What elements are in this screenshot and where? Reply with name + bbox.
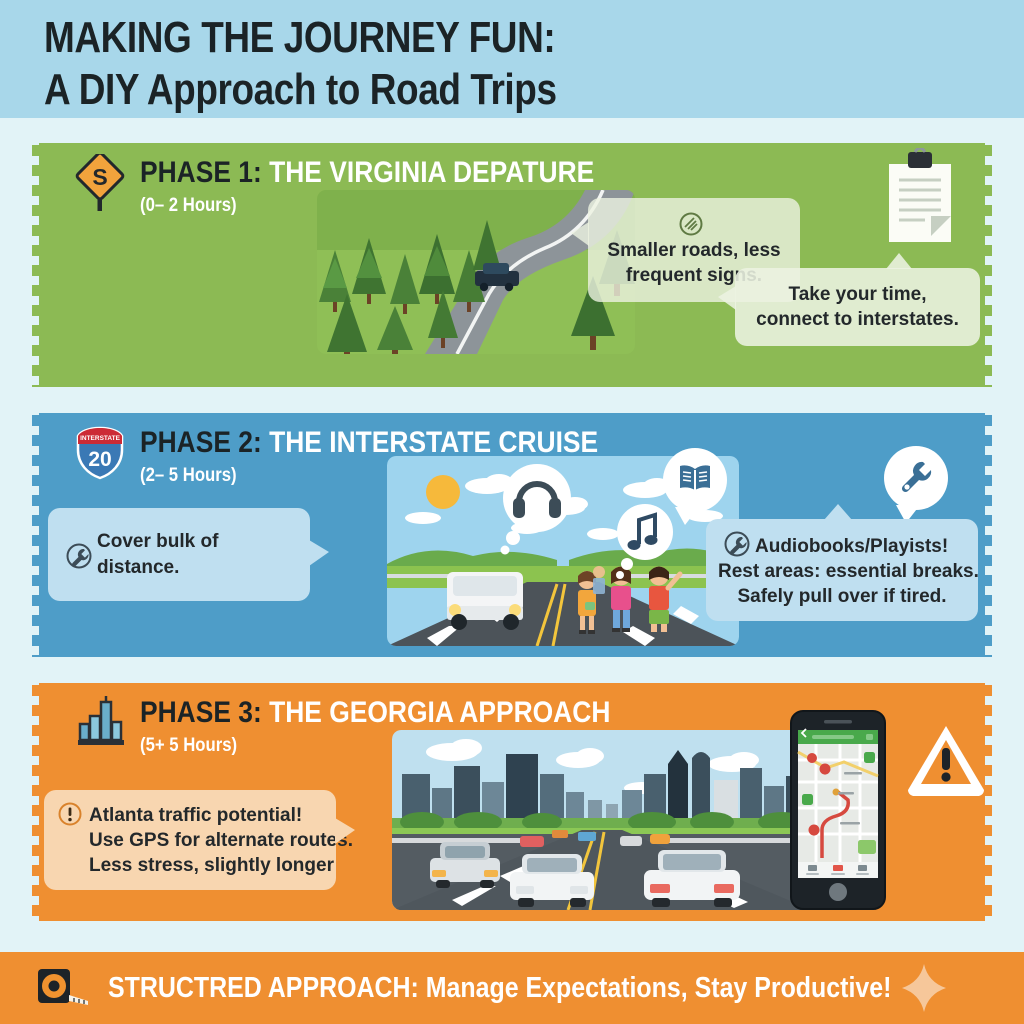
bubble-line: Take your time, (753, 282, 962, 307)
svg-text:S: S (92, 164, 107, 190)
perforation-bottom (32, 387, 992, 394)
bubble-tail (335, 818, 355, 844)
perforation-bottom (32, 657, 992, 664)
bubble-line: Use GPS for alternate routes. (89, 828, 322, 853)
car-left (430, 842, 500, 888)
bubble-tail (571, 222, 589, 246)
exclamation-circle-icon (58, 802, 82, 826)
bubble-line: Cover bulk of distance. (97, 529, 292, 579)
round-bubble-book (663, 448, 727, 512)
perforation-bottom (32, 921, 992, 928)
phase-3-name: THE GEORGIA APPROACH (269, 696, 610, 729)
perforation-right (985, 406, 992, 664)
phase-2-name: THE INTERSTATE CRUISE (269, 426, 598, 459)
bubble-line: Less stress, slightly longer (89, 853, 322, 878)
bubble-line: Rest areas: essential breaks. (718, 559, 966, 584)
city-skyline-icon (74, 694, 126, 750)
footer-content: STRUCTRED APPROACH: Manage Expectations,… (36, 952, 1019, 1024)
phase-1-number: PHASE 1: (140, 156, 269, 189)
car-right (644, 850, 740, 907)
warning-triangle-icon (905, 722, 987, 796)
bubble-tail-up (886, 253, 912, 269)
interstate-banner-text: INTERSTATE (80, 435, 121, 442)
bubble-atlanta-traffic: Atlanta traffic potential! Use GPS for a… (44, 790, 336, 890)
wrench-icon (898, 458, 934, 499)
book-icon (678, 463, 712, 498)
perforation-left (32, 676, 39, 928)
perforation-right (985, 676, 992, 928)
perforation-top (32, 676, 992, 683)
page-title: MAKING THE JOURNEY FUN: A DIY Approach t… (44, 14, 944, 113)
perforation-left (32, 406, 39, 664)
smartphone-gps-map[interactable] (790, 710, 886, 910)
search-location-field (812, 735, 854, 739)
bubble-tail-up (824, 504, 852, 520)
sparkle-icon (902, 964, 946, 1012)
city-highway-traffic-illustration (392, 730, 812, 910)
road-lines-icon (679, 212, 703, 236)
phase-2-number: PHASE 2: (140, 426, 269, 459)
footer-bar: STRUCTRED APPROACH: Manage Expectations,… (0, 952, 1024, 1024)
phase-3-title: PHASE 3: THE GEORGIA APPROACH (140, 698, 610, 728)
bubble-tail (675, 507, 699, 525)
title-line-1: MAKING THE JOURNEY FUN: (44, 14, 800, 62)
bubble-cover-distance: Cover bulk of distance. (48, 508, 310, 601)
wrench-circle-icon (66, 543, 90, 567)
interstate-20-shield-icon: INTERSTATE 20 (74, 424, 126, 480)
perforation-left (32, 136, 39, 394)
phase-3-number: PHASE 3: (140, 696, 269, 729)
title-line-2: A DIY Approach to Road Trips (44, 66, 800, 114)
clipboard-document-icon (877, 148, 963, 253)
perforation-top (32, 136, 992, 143)
car-center (510, 854, 594, 907)
curve-road-sign-icon: S (74, 154, 126, 210)
round-bubble-wrench (884, 446, 948, 510)
phase-1-name: THE VIRGINIA DEPATURE (269, 156, 594, 189)
bubble-line: connect to interstates. (753, 307, 962, 332)
bubble-audiobooks: Audiobooks/Playists! Rest areas: essenti… (706, 519, 978, 621)
bubble-take-your-time: Take your time, connect to interstates. (735, 268, 980, 346)
phase-1-panel: S PHASE 1: THE VIRGINIA DEPATURE (0– 2 H… (32, 136, 992, 394)
phase-2-title: PHASE 2: THE INTERSTATE CRUISE (140, 428, 598, 458)
bubble-line: Smaller roads, less (607, 240, 780, 261)
bubble-line: Safely pull over if tired. (718, 584, 966, 609)
bubble-line: Atlanta traffic potential! (89, 805, 302, 826)
interstate-number-text: 20 (88, 448, 111, 471)
perforation-right (985, 136, 992, 394)
bubble-line: Audiobooks/Playists! (755, 536, 948, 557)
wrench-circle-icon (724, 531, 748, 555)
phase-1-title: PHASE 1: THE VIRGINIA DEPATURE (140, 158, 594, 188)
footer-text: STRUCTRED APPROACH: Manage Expectations,… (108, 972, 891, 1005)
family-group (578, 566, 680, 634)
bubble-tail (309, 540, 329, 566)
bubble-tail (718, 286, 736, 310)
perforation-top (32, 406, 992, 413)
tape-measure-icon (36, 965, 92, 1012)
